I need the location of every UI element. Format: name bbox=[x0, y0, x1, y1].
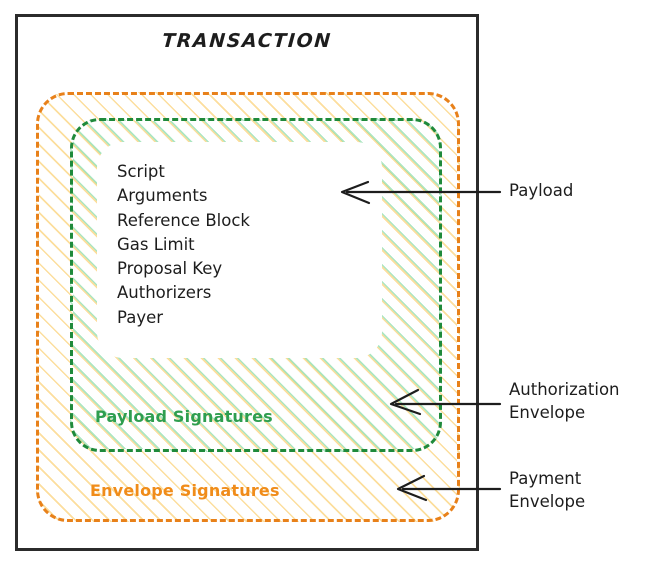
annotation-payload: Payload bbox=[509, 179, 573, 202]
list-item: Payer bbox=[117, 306, 367, 330]
payload-signatures-label: Payload Signatures bbox=[95, 407, 273, 426]
page-title: TRANSACTION bbox=[14, 30, 480, 52]
annotation-authorization-line1: Authorization bbox=[509, 380, 620, 399]
envelope-signatures-label: Envelope Signatures bbox=[90, 481, 280, 500]
annotation-payment-line1: Payment bbox=[509, 469, 581, 488]
list-item: Script bbox=[117, 160, 367, 184]
annotation-payload-line1: Payload bbox=[509, 181, 573, 200]
annotation-payment-envelope: Payment Envelope bbox=[509, 467, 585, 513]
list-item: Arguments bbox=[117, 184, 367, 208]
list-item: Proposal Key bbox=[117, 257, 367, 281]
annotation-authorization-line2: Envelope bbox=[509, 401, 620, 424]
annotation-payment-line2: Envelope bbox=[509, 490, 585, 513]
list-item: Gas Limit bbox=[117, 233, 367, 257]
annotation-authorization-envelope: Authorization Envelope bbox=[509, 378, 620, 424]
list-item: Authorizers bbox=[117, 281, 367, 305]
diagram-canvas: TRANSACTION Script Arguments Reference B… bbox=[0, 0, 664, 569]
payload-field-list: Script Arguments Reference Block Gas Lim… bbox=[117, 160, 367, 330]
list-item: Reference Block bbox=[117, 209, 367, 233]
